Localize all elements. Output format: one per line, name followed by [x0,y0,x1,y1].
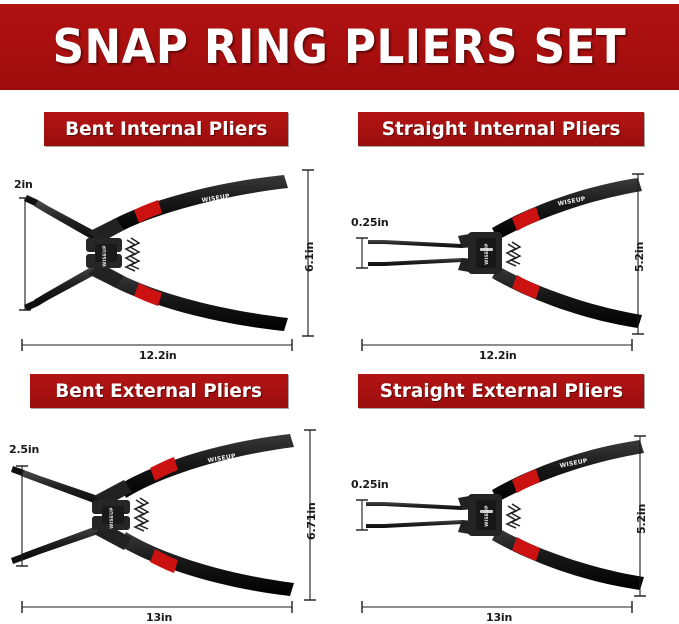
dim-tip-opening-bent-internal: 2in [14,178,33,191]
illustration-straight-external: WISEUP WISEUP 0.25in 5.2in 13in [340,410,679,620]
dim-height-straight-external: 5.2in [635,504,648,534]
panel-label-banner-bent-external: Bent External Pliers [30,374,288,408]
illustration-bent-internal: WISEUP WISEUP 2in 6.1in 12 [0,148,339,358]
panel-bent-external: Bent External Pliers [0,358,339,620]
panel-label-banner-straight-external: Straight External Pliers [358,374,644,408]
panel-label-bent-external: Bent External Pliers [56,380,263,402]
dim-height-straight-internal: 5.2in [633,242,646,272]
panel-straight-internal: Straight Internal Pliers [340,96,679,358]
panel-label-banner-bent-internal: Bent Internal Pliers [44,112,288,146]
dim-tip-opening-bent-external: 2.5in [9,443,39,456]
dim-height-bent-internal: 6.1in [303,242,316,272]
dim-length-bent-external: 13in [146,611,172,624]
product-panel-grid: Bent Internal Pliers [0,96,679,620]
dim-tip-opening-straight-external: 0.25in [351,478,389,491]
header-banner: SNAP RING PLIERS SET [0,4,679,90]
panel-label-banner-straight-internal: Straight Internal Pliers [358,112,644,146]
dimension-lines-straight-internal [340,148,679,358]
illustration-bent-external: WISEUP WISEUP 2.5in 6.71in 13in [0,410,339,620]
dimension-lines-bent-internal [0,148,339,358]
panel-label-straight-internal: Straight Internal Pliers [382,118,621,140]
panel-straight-external: Straight External Pliers [340,358,679,620]
dim-length-straight-external: 13in [486,611,512,624]
illustration-straight-internal: WISEUP WISEUP 0.25in 5.2in 12.2in [340,148,679,358]
dimension-lines-bent-external [0,410,339,620]
dim-height-bent-external: 6.71in [305,502,318,540]
panel-bent-internal: Bent Internal Pliers [0,96,339,358]
dimension-lines-straight-external [340,410,679,620]
panel-label-straight-external: Straight External Pliers [379,380,622,402]
panel-label-bent-internal: Bent Internal Pliers [65,118,267,140]
dim-tip-opening-straight-internal: 0.25in [351,216,389,229]
page-title: SNAP RING PLIERS SET [53,20,627,75]
